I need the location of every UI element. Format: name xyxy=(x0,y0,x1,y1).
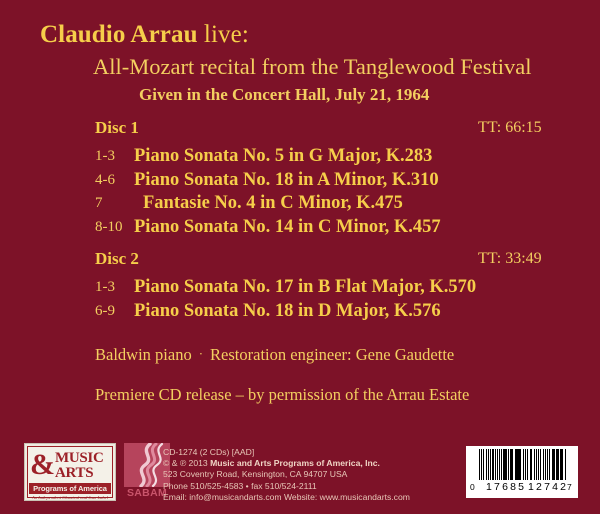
copyright-line: © & ℗ 2013 Music and Arts Programs of Am… xyxy=(163,458,410,469)
track-row: 1-3 Piano Sonata No. 5 in G Major, K.283 xyxy=(0,148,600,172)
instrument-credit: Baldwin piano xyxy=(95,345,192,364)
logo-frame: & MUSIC ARTS Programs of America An Inde… xyxy=(27,446,113,498)
artist-live-suffix: live: xyxy=(198,21,249,48)
ampersand-glyph: & xyxy=(30,450,55,480)
disc-1-track-list: 1-3 Piano Sonata No. 5 in G Major, K.283… xyxy=(0,148,600,242)
barcode-digits: 0 17685 12742 7 xyxy=(470,480,574,494)
page-title: Claudio Arrau live: xyxy=(40,21,249,49)
contact-line: Email: info@musicandarts.com Website: ww… xyxy=(163,492,410,503)
track-row: 8-10 Piano Sonata No. 14 in C Minor, K.4… xyxy=(0,219,600,243)
logo-word-music: MUSIC xyxy=(55,451,104,466)
disc-2-block: Disc 2 TT: 33:49 1-3 Piano Sonata No. 17… xyxy=(0,249,600,326)
artist-name: Claudio Arrau xyxy=(40,21,198,48)
barcode-left-digit: 0 xyxy=(470,480,475,494)
footer-bar: & MUSIC ARTS Programs of America An Inde… xyxy=(0,432,600,514)
premiere-note: Premiere CD release – by permission of t… xyxy=(95,385,469,405)
copyright-company: Music and Arts Programs of America, Inc. xyxy=(210,458,380,468)
track-row: 6-9 Piano Sonata No. 18 in D Major, K.57… xyxy=(0,303,600,327)
track-numbers: 8-10 xyxy=(95,219,139,236)
track-title: Fantasie No. 4 in C Minor, K.475 xyxy=(143,193,403,214)
track-numbers: 1-3 xyxy=(95,148,139,165)
track-numbers: 7 xyxy=(95,195,139,212)
barcode-right-digit: 7 xyxy=(567,480,572,494)
track-title: Piano Sonata No. 18 in D Major, K.576 xyxy=(134,301,441,322)
disc-1-block: Disc 1 TT: 66:15 1-3 Piano Sonata No. 5 … xyxy=(0,118,600,242)
barcode-bars xyxy=(479,449,566,480)
barcode: 0 17685 12742 7 xyxy=(466,446,578,498)
disc-2-total-time: TT: 33:49 xyxy=(478,250,542,268)
track-title: Piano Sonata No. 17 in B Flat Major, K.5… xyxy=(134,277,476,298)
disc-1-total-time: TT: 66:15 xyxy=(478,119,542,137)
venue-date-line: Given in the Concert Hall, July 21, 1964 xyxy=(139,85,429,105)
address-line: 523 Coventry Road, Kensington, CA 94707 … xyxy=(163,469,410,480)
logo-subtitle: Programs of America xyxy=(29,483,111,494)
engineer-credit: Restoration engineer: Gene Gaudette xyxy=(210,345,454,364)
track-numbers: 6-9 xyxy=(95,303,139,320)
catalog-number: CD-1274 (2 CDs) [AAD] xyxy=(163,447,410,458)
track-numbers: 1-3 xyxy=(95,279,139,296)
phone-line: Phone 510/525-4583 • fax 510/524-2111 xyxy=(163,481,410,492)
logo-tagline: An Independent Classical and Jazz Label xyxy=(29,495,111,501)
copyright-symbols: © & ℗ 2013 xyxy=(163,458,210,468)
track-row: 1-3 Piano Sonata No. 17 in B Flat Major,… xyxy=(0,279,600,303)
track-title: Piano Sonata No. 18 in A Minor, K.310 xyxy=(134,170,439,191)
track-numbers: 4-6 xyxy=(95,172,139,189)
barcode-group-1: 17685 xyxy=(486,480,526,494)
logo-word-arts: ARTS xyxy=(55,466,93,481)
track-row: 4-6 Piano Sonata No. 18 in A Minor, K.31… xyxy=(0,172,600,196)
legal-text-block: CD-1274 (2 CDs) [AAD] © & ℗ 2013 Music a… xyxy=(163,447,410,503)
disc-1-header: Disc 1 TT: 66:15 xyxy=(0,118,600,144)
disc-2-header: Disc 2 TT: 33:49 xyxy=(0,249,600,275)
credit-separator: · xyxy=(192,346,210,361)
music-and-arts-logo: & MUSIC ARTS Programs of America An Inde… xyxy=(24,443,116,501)
cd-back-cover: Claudio Arrau live: All-Mozart recital f… xyxy=(0,0,600,514)
disc-2-track-list: 1-3 Piano Sonata No. 17 in B Flat Major,… xyxy=(0,279,600,326)
disc-1-label: Disc 1 xyxy=(95,118,139,138)
disc-2-label: Disc 2 xyxy=(95,249,139,269)
track-row: 7 Fantasie No. 4 in C Minor, K.475 xyxy=(0,195,600,219)
track-title: Piano Sonata No. 5 in G Major, K.283 xyxy=(134,146,432,167)
album-subtitle: All-Mozart recital from the Tanglewood F… xyxy=(93,54,532,80)
barcode-group-2: 12742 xyxy=(528,480,568,494)
track-title: Piano Sonata No. 14 in C Minor, K.457 xyxy=(134,217,441,238)
credits-performers: Baldwin piano·Restoration engineer: Gene… xyxy=(95,345,454,365)
